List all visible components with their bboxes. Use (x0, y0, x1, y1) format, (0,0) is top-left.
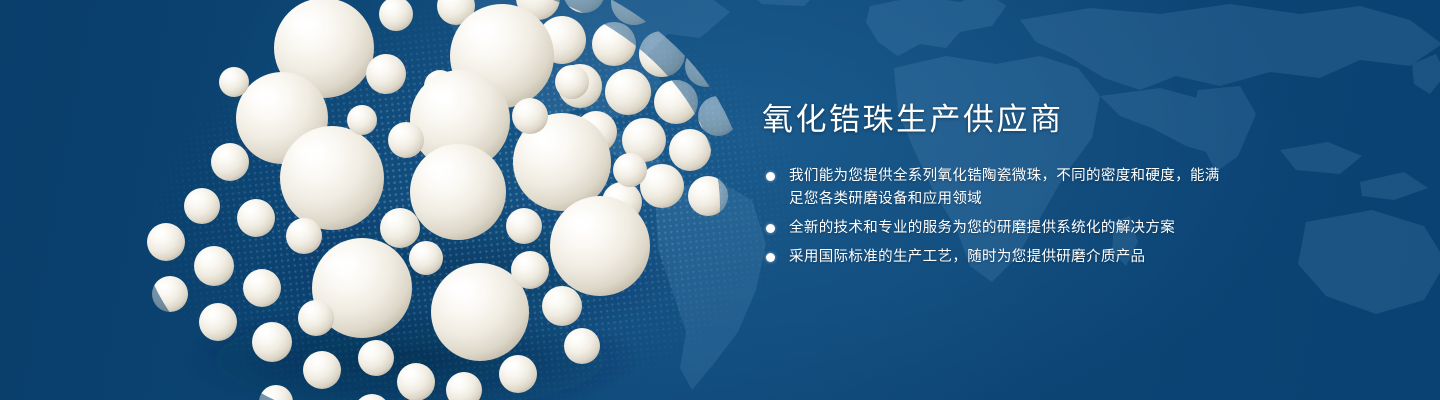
banner-copy: 氧化锆珠生产供应商 我们能为您提供全系列氧化锆陶瓷微珠，不同的密度和硬度，能满足… (762, 100, 1232, 275)
list-item: 全新的技术和专业的服务为您的研磨提供系统化的解决方案 (762, 217, 1232, 240)
list-item-label: 全新的技术和专业的服务为您的研磨提供系统化的解决方案 (789, 217, 1232, 240)
page-title: 氧化锆珠生产供应商 (762, 100, 1232, 140)
list-item-label: 我们能为您提供全系列氧化锆陶瓷微珠，不同的密度和硬度，能满足您各类研磨设备和应用… (789, 165, 1232, 211)
list-item: 我们能为您提供全系列氧化锆陶瓷微珠，不同的密度和硬度，能满足您各类研磨设备和应用… (762, 165, 1232, 211)
list-item-label: 采用国际标准的生产工艺，随时为您提供研磨介质产品 (789, 246, 1232, 269)
zirconia-beads-photo (110, 0, 750, 400)
halftone-dot-pattern (39, 0, 822, 400)
hero-banner: 氧化锆珠生产供应商 我们能为您提供全系列氧化锆陶瓷微珠，不同的密度和硬度，能满足… (0, 0, 1440, 400)
feature-bullet-list: 我们能为您提供全系列氧化锆陶瓷微珠，不同的密度和硬度，能满足您各类研磨设备和应用… (762, 165, 1232, 269)
bullet-dot-icon (766, 172, 775, 181)
bullet-dot-icon (766, 224, 775, 233)
bullet-dot-icon (766, 253, 775, 262)
list-item: 采用国际标准的生产工艺，随时为您提供研磨介质产品 (762, 246, 1232, 269)
